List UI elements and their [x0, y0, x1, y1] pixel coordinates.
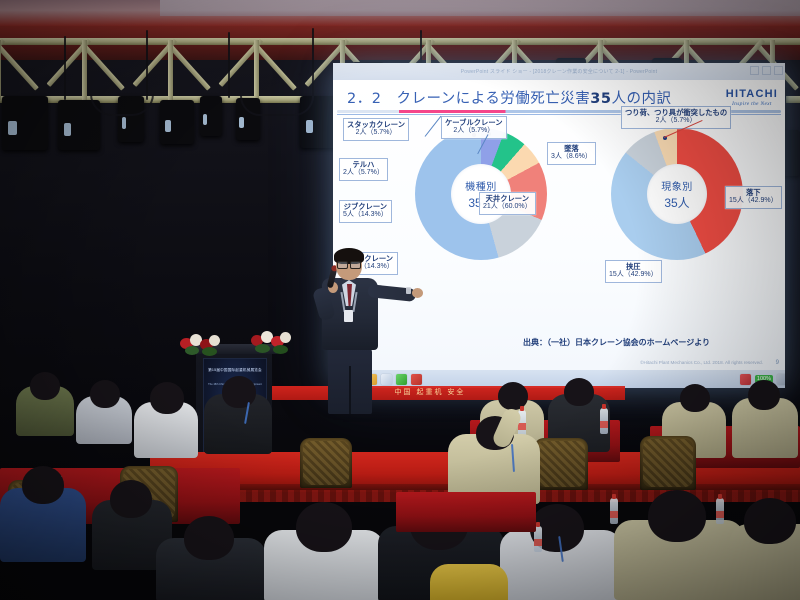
audience	[0, 380, 800, 600]
label-value: 15人（42.9%）	[729, 197, 778, 205]
label-value: 15人（42.9%）	[609, 271, 658, 279]
audience-head	[110, 480, 152, 518]
window-title: PowerPoint スライド ショー - [2018クレーン作業の安全について…	[461, 68, 658, 75]
label-overhead-crane: 天井クレーン 21人（60.0%）	[479, 192, 536, 215]
truss-post	[0, 40, 1, 100]
label-value: 21人（60.0%）	[483, 203, 532, 211]
close-icon[interactable]	[774, 66, 783, 75]
lectern-panel-title: 第15届中国国际起重机械展览会	[204, 368, 266, 373]
label-load-collision: つり荷、つり具が衝突したもの 2人（5.7%）	[621, 106, 731, 129]
label-value: 2人（5.7%）	[347, 129, 405, 137]
donut-chart-by-phenomenon: 現象別 35人	[611, 128, 743, 260]
label-value: 2人（5.7%）	[445, 127, 503, 135]
audience-head	[744, 498, 796, 544]
stage-light	[200, 96, 222, 136]
audience-chair	[300, 438, 352, 488]
audience-head	[150, 382, 184, 414]
hitachi-logo: HITACHI Inspire the Next	[726, 89, 778, 108]
audience-head	[184, 516, 234, 560]
rigging-cable	[240, 96, 314, 116]
audience-table	[396, 492, 536, 532]
rigging-cable	[146, 30, 148, 100]
slide-page-number: 9	[776, 360, 779, 366]
audience-head	[30, 372, 60, 400]
donut-center-label: 現象別 35人	[647, 164, 707, 224]
label-cable-crane: ケーブルクレーン 2人（5.7%）	[441, 116, 507, 139]
donut-center-title: 現象別	[661, 178, 693, 193]
rigging-cable	[312, 28, 314, 98]
truss-brace	[84, 42, 134, 98]
floral-arrangement-right	[250, 330, 296, 356]
label-value: 5人（14.3%）	[343, 211, 388, 219]
venue-scene: PowerPoint スライド ショー - [2018クレーン作業の安全について…	[0, 0, 800, 600]
slide-title: 2．2 クレーンによる労働死亡災害35人の内訳	[347, 87, 707, 108]
powerpoint-titlebar: PowerPoint スライド ショー - [2018クレーン作業の安全について…	[333, 63, 785, 80]
slide-title-suffix: 人の内訳	[611, 91, 671, 107]
truss-post	[82, 40, 87, 100]
source-note: 出典：（一社）日本クレーン協会のホームページより	[523, 337, 710, 348]
label-value: 3人（8.6%）	[551, 153, 592, 161]
audience-head	[222, 376, 256, 408]
ceiling-strip-secondary	[160, 0, 800, 16]
slide-copyright: ©Hitachi Plant Mechanics Co., Ltd. 2018.…	[640, 360, 763, 365]
audience-chair	[534, 438, 588, 490]
minimize-icon[interactable]	[750, 66, 759, 75]
floral-arrangement-left	[178, 332, 224, 358]
label-value: 2人（5.7%）	[625, 117, 727, 125]
water-bottle	[716, 498, 724, 524]
water-bottle	[600, 408, 608, 434]
presenter-name-badge	[344, 310, 353, 322]
stage-light	[2, 96, 48, 150]
hitachi-tagline: Inspire the Next	[726, 102, 778, 108]
water-bottle	[610, 498, 618, 524]
stage-light	[160, 100, 194, 144]
truss-brace	[256, 42, 306, 98]
audience-chair	[640, 436, 696, 490]
glasses-icon	[337, 261, 361, 267]
label-fall-from-height: 墜落 3人（8.6%）	[547, 142, 596, 165]
label-jib-crane: ジブクレーン 5人（14.3%）	[339, 200, 392, 223]
rigging-cable	[64, 36, 66, 100]
window-controls	[750, 66, 783, 75]
audience-head	[564, 378, 594, 406]
rigging-cable	[228, 32, 230, 98]
label-value: 2人（5.7%）	[343, 169, 384, 177]
hitachi-wordmark: HITACHI	[726, 89, 778, 100]
label-crushing: 挟圧 15人（42.9%）	[605, 260, 662, 283]
audience-head	[648, 490, 706, 542]
truss-brace	[0, 42, 48, 98]
slide-title-number: 35	[590, 91, 611, 107]
truss-post	[168, 40, 173, 100]
audience-head	[680, 384, 710, 412]
truss-post	[254, 40, 259, 100]
label-stacker-crane: スタッカクレーン 2人（5.7%）	[343, 118, 409, 141]
audience-head	[22, 466, 64, 504]
audience-head	[90, 380, 120, 408]
label-telpher: テルハ 2人（5.7%）	[339, 158, 388, 181]
audience-head	[296, 502, 352, 552]
presenter-wristwatch	[406, 287, 411, 294]
truss-brace	[170, 42, 220, 98]
label-falling-object: 落下 15人（42.9%）	[725, 186, 782, 209]
slide-title-prefix: 2．2 クレーンによる労働死亡災害	[347, 91, 590, 107]
maximize-icon[interactable]	[762, 66, 771, 75]
donut-center-total: 35人	[664, 194, 689, 211]
audience-head	[748, 380, 780, 410]
audience-person	[430, 564, 508, 600]
presenter-right-hand	[412, 288, 423, 298]
donut-center-title: 機種別	[465, 178, 497, 193]
